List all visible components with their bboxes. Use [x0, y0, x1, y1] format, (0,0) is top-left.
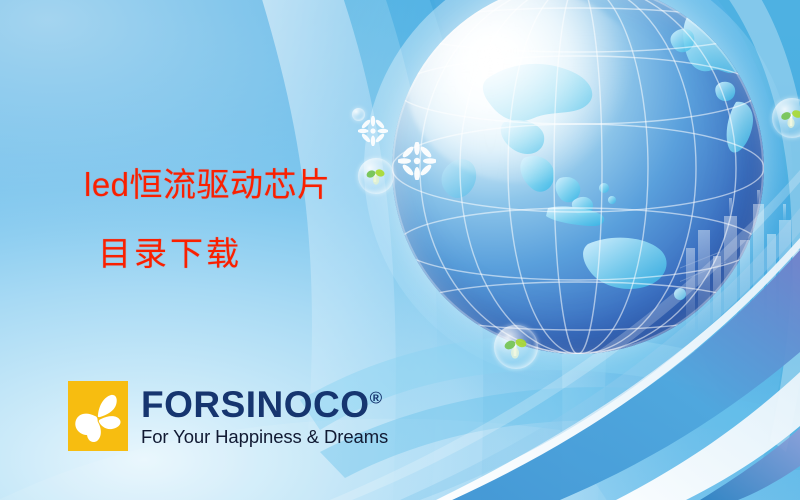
logo-wordmark-text: FORSINOCO: [141, 384, 370, 425]
logo-tagline: For Your Happiness & Dreams: [141, 426, 388, 448]
four-petal-flower-mark-icon: [68, 381, 128, 451]
headline-line-2: 目录下载: [98, 231, 331, 278]
registered-trademark-icon: ®: [370, 389, 383, 408]
headline-line-1-han: 恒流驱动芯片: [130, 165, 331, 204]
logo-wordmark: FORSINOCO®: [141, 387, 388, 423]
company-logo[interactable]: FORSINOCO® For Your Happiness & Dreams: [68, 381, 388, 451]
headline-line-1: led恒流驱动芯片: [84, 162, 331, 209]
poster-canvas: led恒流驱动芯片 目录下载 FORSINOCO® For Your: [0, 0, 800, 500]
headline-line-1-latin: led: [84, 166, 130, 203]
headline-text: led恒流驱动芯片 目录下载: [84, 162, 331, 278]
logo-text-block: FORSINOCO® For Your Happiness & Dreams: [141, 381, 388, 448]
